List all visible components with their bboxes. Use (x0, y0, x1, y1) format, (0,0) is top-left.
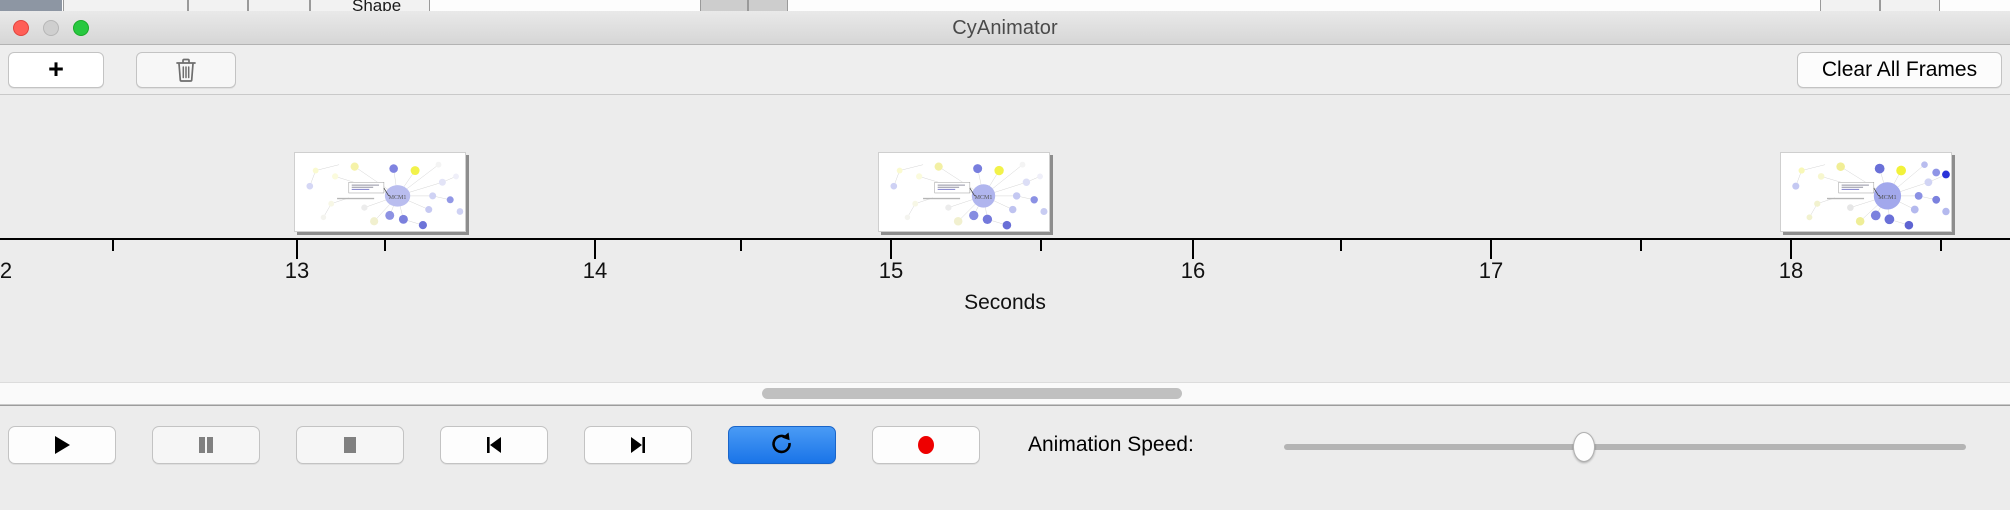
animation-speed-slider[interactable] (1284, 444, 1966, 450)
tick-label: 14 (583, 258, 607, 284)
tick-major (296, 240, 298, 259)
record-icon (914, 433, 938, 457)
stop-button[interactable] (296, 426, 404, 464)
toolbar: + Clear All Frames (0, 45, 2010, 95)
animation-speed-track[interactable] (1284, 444, 1966, 450)
tick-label: 15 (879, 258, 903, 284)
axis-title: Seconds (0, 291, 2010, 315)
tick-label: 16 (1181, 258, 1205, 284)
pause-icon (196, 433, 216, 457)
transport-bar: Animation Speed: (0, 405, 2010, 508)
timeline-ruler (0, 238, 2010, 240)
record-button[interactable] (872, 426, 980, 464)
network-graph-thumbnail: MCM1 (295, 153, 465, 231)
animation-speed-thumb[interactable] (1573, 432, 1595, 462)
tick-minor (112, 240, 114, 251)
tick-minor (384, 240, 386, 251)
add-frame-button[interactable]: + (8, 52, 104, 88)
tick-major (1490, 240, 1492, 259)
plus-icon: + (48, 56, 64, 83)
cyanimator-window: CyAnimator + Clear All Frames (0, 11, 2010, 510)
tick-minor (1340, 240, 1342, 251)
tick-label: 13 (285, 258, 309, 284)
loop-button[interactable] (728, 426, 836, 464)
tick-label: 2 (0, 258, 12, 284)
delete-frame-button[interactable] (136, 52, 236, 88)
window-title: CyAnimator (0, 11, 2010, 45)
tick-minor (1940, 240, 1942, 251)
tick-major (1790, 240, 1792, 259)
svg-text:MCM1: MCM1 (975, 195, 993, 201)
keyframe-thumbnail[interactable]: MCM1 (1780, 152, 1952, 232)
loop-icon (769, 432, 795, 458)
keyframe-thumbnail[interactable]: MCM1 (294, 152, 466, 232)
svg-text:MCM1: MCM1 (389, 195, 407, 201)
network-graph-thumbnail: MCM1 (879, 153, 1049, 231)
tick-minor (1040, 240, 1042, 251)
skip-forward-icon (627, 433, 649, 457)
network-graph-thumbnail: MCM1 (1781, 153, 1951, 231)
keyframe-thumbnail[interactable]: MCM1 (878, 152, 1050, 232)
tick-minor (1640, 240, 1642, 251)
timeline-scrollbar-track[interactable] (0, 382, 2010, 404)
tick-label: 18 (1779, 258, 1803, 284)
svg-text:MCM1: MCM1 (1878, 194, 1896, 201)
first-frame-button[interactable] (440, 426, 548, 464)
tick-label: 17 (1479, 258, 1503, 284)
tick-major (594, 240, 596, 259)
skip-back-icon (483, 433, 505, 457)
tick-minor (740, 240, 742, 251)
title-bar: CyAnimator (0, 11, 2010, 45)
last-frame-button[interactable] (584, 426, 692, 464)
trash-icon (175, 57, 197, 83)
stop-icon (340, 433, 360, 457)
pause-button[interactable] (152, 426, 260, 464)
clear-all-frames-label: Clear All Frames (1822, 58, 1977, 82)
tick-major (890, 240, 892, 259)
animation-speed-label: Animation Speed: (1028, 433, 1194, 457)
play-button[interactable] (8, 426, 116, 464)
play-icon (51, 433, 73, 457)
tick-major (1192, 240, 1194, 259)
timeline-panel[interactable]: MCM1 (0, 95, 2010, 405)
clear-all-frames-button[interactable]: Clear All Frames (1797, 52, 2002, 88)
timeline-scrollbar-thumb[interactable] (762, 388, 1182, 399)
